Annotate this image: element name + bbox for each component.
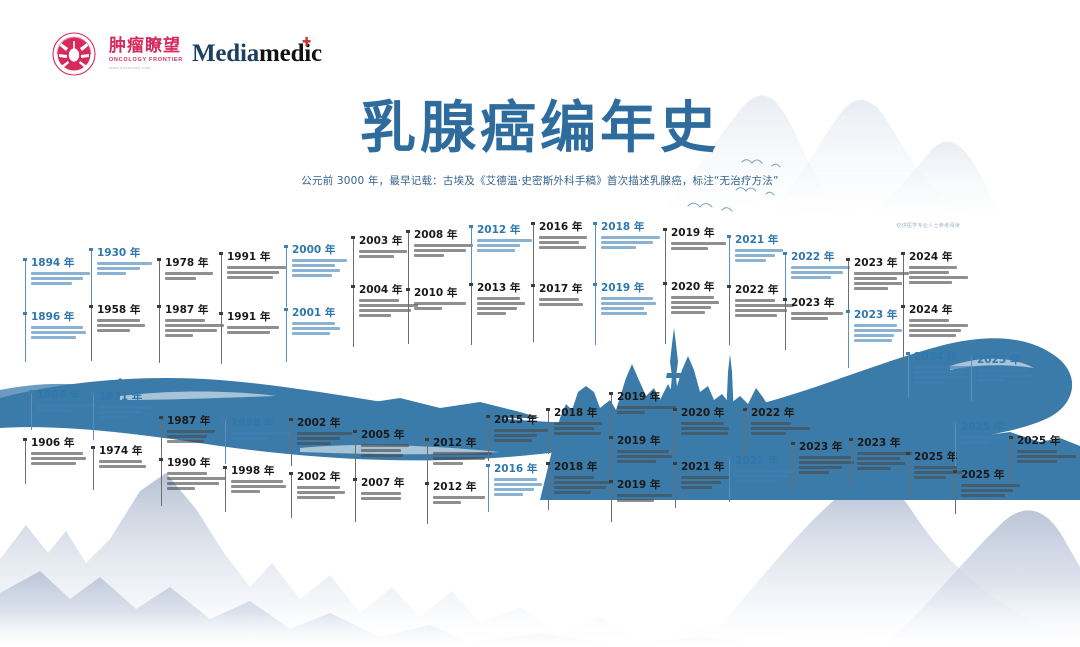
entry-stem <box>225 418 226 464</box>
entry-stem <box>353 285 354 347</box>
entry-year-label: 2016 年 <box>539 222 599 234</box>
entry-description <box>31 326 91 339</box>
entry-description <box>909 266 969 284</box>
entry-stem <box>611 480 612 522</box>
entry-card: 1987 年 <box>167 416 227 445</box>
entry-description <box>165 319 225 337</box>
entry-marker-dot <box>486 464 489 467</box>
entry-year-label: 2012 年 <box>433 438 493 450</box>
entry-stem <box>675 462 676 508</box>
entry-stem <box>471 225 472 289</box>
entry-year-label: 2022 年 <box>791 252 851 264</box>
entry-marker-dot <box>23 312 26 315</box>
entry-year-label: 2018 年 <box>601 222 661 234</box>
entry-card: 1978 年 <box>165 258 225 282</box>
entry-description <box>292 322 352 335</box>
entry-card: 2023 年 <box>854 258 914 291</box>
entry-marker-dot <box>289 472 292 475</box>
entry-year-label: 1987 年 <box>167 416 227 428</box>
entry-stem <box>851 438 852 486</box>
entry-stem <box>93 446 94 490</box>
entry-card: 2018 年 <box>601 222 661 251</box>
entry-description <box>227 266 287 279</box>
entry-stem <box>848 310 849 368</box>
entry-card: 2002 年 <box>297 418 357 447</box>
entry-description <box>477 239 537 252</box>
entry-marker-dot <box>29 390 32 393</box>
entry-card: 2024 年 <box>909 305 969 338</box>
entry-card: 1958 年 <box>97 305 157 334</box>
entry-stem <box>91 248 92 310</box>
entry-card: 2025 年 <box>1017 436 1077 465</box>
entry-year-label: 2023 年 <box>854 310 914 322</box>
entry-marker-dot <box>846 310 849 313</box>
entry-marker-dot <box>223 418 226 421</box>
entry-description <box>433 452 493 465</box>
entry-stem <box>427 438 428 484</box>
entry-stem <box>25 312 26 362</box>
entry-description <box>231 432 291 440</box>
entry-year-label: 2021 年 <box>681 462 741 474</box>
entry-year-label: 2023 年 <box>791 298 851 310</box>
entry-year-label: 2013 年 <box>477 283 537 295</box>
entry-card: 2025 年 <box>961 422 1021 446</box>
entry-marker-dot <box>486 415 489 418</box>
entry-card: 1974 年 <box>99 446 159 470</box>
entry-marker-dot <box>953 422 956 425</box>
entry-marker-dot <box>157 258 160 261</box>
entry-stem <box>221 312 222 364</box>
entry-year-label: 2008 年 <box>414 230 474 242</box>
entry-marker-dot <box>469 283 472 286</box>
entry-marker-dot <box>351 285 354 288</box>
entry-description <box>539 298 599 306</box>
entry-stem <box>903 252 904 310</box>
entry-marker-dot <box>284 245 287 248</box>
entry-description <box>31 272 91 285</box>
entry-year-label: 2005 年 <box>361 430 421 442</box>
entry-year-label: 1896 年 <box>31 312 91 324</box>
entry-year-label: 1974 年 <box>99 446 159 458</box>
entry-description <box>477 297 537 315</box>
entry-marker-dot <box>23 438 26 441</box>
entry-year-label: 2002 年 <box>297 418 357 430</box>
entry-marker-dot <box>901 305 904 308</box>
entry-stem <box>93 392 94 440</box>
entry-card: 2007 年 <box>361 478 421 502</box>
entry-marker-dot <box>743 408 746 411</box>
entry-stem <box>611 436 612 482</box>
entry-year-label: 2023 年 <box>854 258 914 270</box>
entry-stem <box>611 392 612 436</box>
entry-card: 2017 年 <box>539 284 599 308</box>
entry-card: 2020 年 <box>681 408 741 437</box>
entry-marker-dot <box>91 446 94 449</box>
entry-stem <box>286 245 287 307</box>
entry-description <box>494 478 554 496</box>
logo-english-name: ONCOLOGY FRONTIER <box>109 58 183 63</box>
entry-description <box>231 480 291 493</box>
entry-description <box>494 429 554 442</box>
entry-description <box>31 452 91 465</box>
poster-header: 肿瘤瞭望 ONCOLOGY FRONTIER www.oncofront.com… <box>0 0 1080 96</box>
entry-description <box>854 324 914 342</box>
entry-year-label: 2020 年 <box>681 408 741 420</box>
entry-card: 1987 年 <box>165 305 225 338</box>
entry-description <box>735 470 795 483</box>
entry-card: 2023 年 <box>791 298 851 322</box>
entry-description <box>671 242 731 250</box>
entry-year-label: 1998 年 <box>231 466 291 478</box>
entry-marker-dot <box>351 236 354 239</box>
entry-year-label: 2023 年 <box>857 438 917 450</box>
entry-year-label: 2018 年 <box>554 462 614 474</box>
entry-year-label: 2019 年 <box>601 283 661 295</box>
entry-stem <box>488 464 489 512</box>
entry-marker-dot <box>849 438 852 441</box>
entry-marker-dot <box>609 480 612 483</box>
entry-stem <box>225 466 226 512</box>
entry-description <box>681 476 741 489</box>
entry-marker-dot <box>901 252 904 255</box>
entry-stem <box>291 418 292 466</box>
entry-stem <box>908 452 909 498</box>
entry-description <box>961 484 1021 497</box>
page-title: 乳腺癌编年史 <box>0 100 1080 159</box>
entry-stem <box>533 222 534 284</box>
entry-description <box>167 430 227 443</box>
entry-description <box>914 366 974 384</box>
entry-marker-dot <box>353 478 356 481</box>
entry-stem <box>221 252 222 312</box>
entry-year-label: 2021 年 <box>735 235 795 247</box>
entry-marker-dot <box>353 430 356 433</box>
entry-stem <box>31 390 32 430</box>
entry-marker-dot <box>289 418 292 421</box>
entry-stem <box>533 284 534 342</box>
entry-card: 2024 年 <box>914 352 974 385</box>
entry-description <box>414 244 474 257</box>
entry-year-label: 2003 年 <box>359 236 419 248</box>
entry-card: 2012 年 <box>433 482 493 506</box>
entry-card: 1990 年 <box>167 458 227 491</box>
entry-year-label: 1971 年 <box>99 392 159 404</box>
entry-stem <box>971 355 972 401</box>
entry-description <box>359 250 419 258</box>
entry-stem <box>159 305 160 363</box>
entry-description <box>909 319 969 337</box>
entry-marker-dot <box>425 482 428 485</box>
entry-card: 2022 年 <box>791 252 851 281</box>
entry-card: 2004 年 <box>359 285 419 318</box>
entry-card: 2022 年 <box>735 285 795 318</box>
entry-stem <box>427 482 428 524</box>
entry-stem <box>595 283 596 345</box>
entry-description <box>99 406 159 419</box>
entry-card: 2024 年 <box>909 252 969 285</box>
entry-year-label: 2025 年 <box>961 422 1021 434</box>
entry-card: 2012 年 <box>433 438 493 467</box>
entry-year-label: 2001 年 <box>292 308 352 320</box>
entry-marker-dot <box>593 283 596 286</box>
entry-marker-dot <box>673 462 676 465</box>
crab-seal-icon <box>48 28 100 80</box>
entry-stem <box>785 298 786 350</box>
entry-stem <box>471 283 472 345</box>
entry-description <box>97 262 157 275</box>
entry-description <box>361 444 421 457</box>
entry-stem <box>595 222 596 284</box>
entry-card: 1991 年 <box>227 252 287 281</box>
entry-marker-dot <box>531 284 534 287</box>
entry-marker-dot <box>593 222 596 225</box>
entry-marker-dot <box>783 252 786 255</box>
entry-marker-dot <box>969 355 972 358</box>
entry-year-label: 2017 年 <box>539 284 599 296</box>
entry-stem <box>665 228 666 286</box>
entry-year-label: 1991 年 <box>227 252 287 264</box>
entry-card: 2018 年 <box>554 462 614 495</box>
entry-description <box>539 236 599 249</box>
entry-card: 1991 年 <box>227 312 287 336</box>
entry-year-label: 2024 年 <box>909 305 969 317</box>
entry-stem <box>908 352 909 398</box>
entry-year-label: 2015 年 <box>494 415 554 427</box>
entry-card: 2019 年 <box>601 283 661 316</box>
entry-description <box>977 369 1037 382</box>
entry-marker-dot <box>609 392 612 395</box>
entry-year-label: 2020 年 <box>671 282 731 294</box>
entry-stem <box>25 438 26 484</box>
mediamedic-brand[interactable]: Mediamedic <box>192 40 322 68</box>
entry-stem <box>548 408 549 454</box>
entry-year-label: 1906 年 <box>37 390 97 402</box>
entry-card: 2019 年 <box>617 480 677 504</box>
entry-stem <box>548 462 549 510</box>
entry-stem <box>675 408 676 454</box>
entry-marker-dot <box>846 258 849 261</box>
entry-card: 2012 年 <box>477 225 537 254</box>
entry-description <box>292 259 352 277</box>
entry-year-label: 2010 年 <box>414 288 474 300</box>
entry-year-label: 1978 年 <box>165 258 225 270</box>
entry-card: 1998 年 <box>231 466 291 495</box>
entry-marker-dot <box>727 456 730 459</box>
entry-marker-dot <box>1009 436 1012 439</box>
entry-description <box>671 296 731 314</box>
entry-description <box>854 272 914 290</box>
entry-description <box>791 312 851 320</box>
entry-year-label: 1930 年 <box>97 248 157 260</box>
entry-year-label: 2018 年 <box>554 408 614 420</box>
entry-description <box>99 460 159 468</box>
entry-marker-dot <box>406 288 409 291</box>
entry-marker-dot <box>469 225 472 228</box>
entry-card: 2016 年 <box>494 464 554 497</box>
entry-year-label: 2000 年 <box>292 245 352 257</box>
entry-stem <box>903 305 904 363</box>
entry-marker-dot <box>159 416 162 419</box>
entry-marker-dot <box>906 352 909 355</box>
entry-card: 1906 年 <box>37 390 97 414</box>
entry-card: 2018 年 <box>554 408 614 437</box>
entry-description <box>297 486 357 499</box>
entry-marker-dot <box>531 222 534 225</box>
brand-part-medic: medic <box>259 40 322 67</box>
entry-marker-dot <box>284 308 287 311</box>
entry-description <box>97 319 157 332</box>
entry-year-label: 1990 年 <box>167 458 227 470</box>
logo-chinese-name: 肿瘤瞭望 <box>109 38 183 55</box>
entry-card: 2005 年 <box>361 430 421 459</box>
brand-part-media: Media <box>192 40 259 67</box>
entry-card: 2019 年 <box>617 436 677 465</box>
entry-description <box>681 422 741 435</box>
entry-card: 2016 年 <box>539 222 599 251</box>
entry-card: 2023 年 <box>854 310 914 343</box>
entry-year-label: 1998 年 <box>231 418 291 430</box>
entry-marker-dot <box>89 305 92 308</box>
entry-stem <box>848 258 849 316</box>
entry-marker-dot <box>906 452 909 455</box>
oncology-frontier-logo[interactable]: 肿瘤瞭望 ONCOLOGY FRONTIER www.oncofront.com <box>48 28 183 80</box>
entry-card: 2013 年 <box>477 283 537 316</box>
entry-marker-dot <box>223 466 226 469</box>
entry-year-label: 2019 年 <box>617 436 677 448</box>
entry-marker-dot <box>609 436 612 439</box>
entry-year-label: 1958 年 <box>97 305 157 317</box>
entry-description <box>165 272 225 280</box>
entry-marker-dot <box>546 462 549 465</box>
entry-stem <box>355 430 356 478</box>
entry-description <box>227 326 287 334</box>
entry-year-label: 2019 年 <box>617 392 677 404</box>
entry-card: 2003 年 <box>359 236 419 260</box>
entry-card: 2022 年 <box>735 456 795 485</box>
entry-stem <box>408 230 409 292</box>
entry-card: 1998 年 <box>231 418 291 442</box>
entry-marker-dot <box>157 305 160 308</box>
entry-card: 2015 年 <box>494 415 554 444</box>
entry-description <box>601 236 661 249</box>
logo-url: www.oncofront.com <box>109 66 183 70</box>
entry-stem <box>955 422 956 466</box>
entry-marker-dot <box>791 442 794 445</box>
entry-marker-dot <box>89 248 92 251</box>
entry-year-label: 2025 年 <box>961 470 1021 482</box>
entry-card: 2019 年 <box>617 392 677 416</box>
entry-description <box>167 472 227 490</box>
entry-description <box>554 476 614 494</box>
entry-marker-dot <box>727 235 730 238</box>
entry-marker-dot <box>159 458 162 461</box>
entry-year-label: 2019 年 <box>671 228 731 240</box>
entry-card: 2000 年 <box>292 245 352 278</box>
entry-card: 2025 年 <box>961 470 1021 499</box>
entry-description <box>361 492 421 500</box>
entry-card: 2022 年 <box>751 408 811 437</box>
entry-year-label: 2025 年 <box>977 355 1037 367</box>
entry-marker-dot <box>406 230 409 233</box>
entry-year-label: 2024 年 <box>914 352 974 364</box>
entry-card: 1896 年 <box>31 312 91 341</box>
entry-description <box>433 496 493 504</box>
entry-year-label: 2019 年 <box>617 480 677 492</box>
entry-card: 1906 年 <box>31 438 91 467</box>
entry-stem <box>745 408 746 454</box>
entry-year-label: 2025 年 <box>914 452 974 464</box>
entry-description <box>359 299 419 317</box>
entry-card: 1930 年 <box>97 248 157 277</box>
entry-marker-dot <box>953 470 956 473</box>
entry-marker-dot <box>546 408 549 411</box>
entry-description <box>1017 450 1077 463</box>
entry-description <box>617 406 677 414</box>
entry-description <box>617 450 677 463</box>
entry-year-label: 1894 年 <box>31 258 91 270</box>
entry-stem <box>955 470 956 514</box>
entry-stem <box>488 415 489 461</box>
entry-stem <box>729 456 730 502</box>
entry-description <box>554 422 614 435</box>
entry-card: 2010 年 <box>414 288 474 312</box>
watermark-note: 仅供医学专业人士参考阅读 <box>896 222 960 229</box>
entry-year-label: 2004 年 <box>359 285 419 297</box>
entry-description <box>601 297 661 315</box>
entry-card: 2001 年 <box>292 308 352 337</box>
entry-marker-dot <box>219 312 222 315</box>
entry-year-label: 1906 年 <box>31 438 91 450</box>
entry-stem <box>291 472 292 518</box>
entry-card: 2021 年 <box>681 462 741 491</box>
entry-stem <box>161 458 162 506</box>
entry-card: 2023 年 <box>799 442 859 475</box>
entry-stem <box>25 258 26 320</box>
entry-card: 2002 年 <box>297 472 357 501</box>
entry-card: 2019 年 <box>671 228 731 252</box>
entry-marker-dot <box>727 285 730 288</box>
entry-stem <box>408 288 409 344</box>
entry-stem <box>91 305 92 361</box>
entry-stem <box>286 308 287 362</box>
medical-cross-icon <box>302 37 311 48</box>
entry-year-label: 2022 年 <box>735 456 795 468</box>
entry-year-label: 1991 年 <box>227 312 287 324</box>
entry-year-label: 2012 年 <box>477 225 537 237</box>
entry-description <box>791 266 851 279</box>
entry-description <box>37 404 97 412</box>
entry-description <box>751 422 811 435</box>
entry-card: 2008 年 <box>414 230 474 259</box>
entry-year-label: 2012 年 <box>433 482 493 494</box>
entry-marker-dot <box>23 258 26 261</box>
entry-marker-dot <box>663 282 666 285</box>
entry-year-label: 1987 年 <box>165 305 225 317</box>
entry-year-label: 2023 年 <box>799 442 859 454</box>
entry-stem <box>355 478 356 522</box>
entry-description <box>799 456 859 474</box>
entry-marker-dot <box>219 252 222 255</box>
entry-year-label: 2022 年 <box>751 408 811 420</box>
entry-year-label: 2022 年 <box>735 285 795 297</box>
entry-description <box>414 302 474 310</box>
entry-card: 2020 年 <box>671 282 731 315</box>
entry-description <box>297 432 357 445</box>
subtitle: 公元前 3000 年，最早记载：古埃及《艾德温·史密斯外科手稿》首次描述乳腺癌，… <box>0 173 1080 188</box>
entry-year-label: 2025 年 <box>1017 436 1077 448</box>
entry-marker-dot <box>91 392 94 395</box>
entry-card: 1894 年 <box>31 258 91 287</box>
